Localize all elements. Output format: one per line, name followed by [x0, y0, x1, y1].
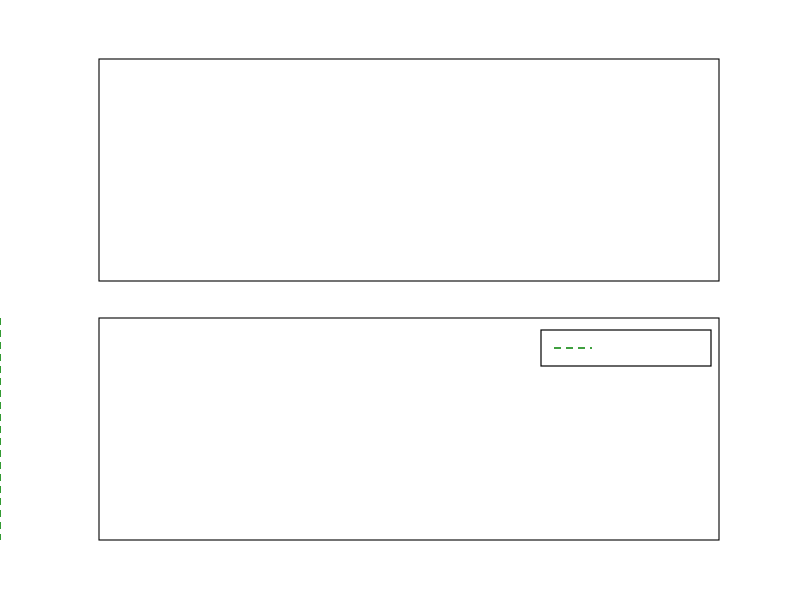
top-panel — [99, 59, 719, 281]
matplotlib-figure — [0, 0, 800, 600]
legend[interactable] — [541, 330, 711, 366]
figure-canvas — [0, 0, 800, 600]
bottom-panel — [0, 318, 719, 540]
top-plot-background — [99, 59, 719, 281]
